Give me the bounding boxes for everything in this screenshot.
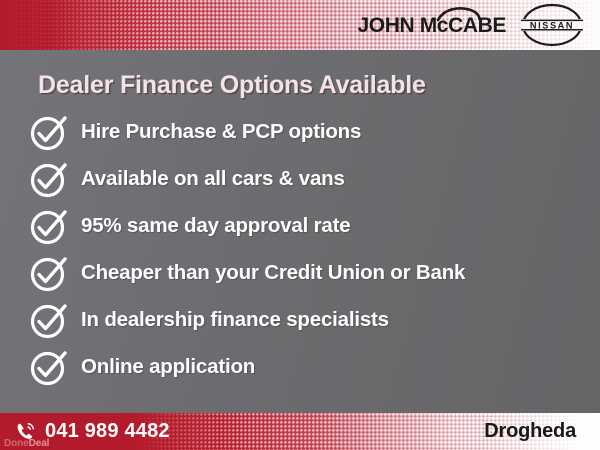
brand-logo-group[interactable]: JOHN McCABE NISSAN xyxy=(358,0,588,50)
check-circle-icon xyxy=(28,252,70,294)
page-title: Dealer Finance Options Available xyxy=(38,71,426,100)
check-circle-icon xyxy=(28,299,70,341)
list-item: 95% same day approval rate xyxy=(28,202,588,249)
dealer-location: Drogheda xyxy=(484,413,576,450)
nissan-logo-icon: NISSAN xyxy=(516,3,588,47)
list-item: Available on all cars & vans xyxy=(28,155,588,202)
advertisement-banner: JOHN McCABE NISSAN Dealer Finance Option… xyxy=(0,0,600,450)
check-circle-icon xyxy=(28,205,70,247)
list-item-label: Cheaper than your Credit Union or Bank xyxy=(81,261,465,285)
swoosh-icon xyxy=(436,6,482,22)
list-item-label: Online application xyxy=(81,355,255,379)
nissan-wordmark: NISSAN xyxy=(530,20,574,30)
list-item: Hire Purchase & PCP options xyxy=(28,108,588,155)
list-item: In dealership finance specialists xyxy=(28,296,588,343)
phone-number: 041 989 4482 xyxy=(45,420,170,443)
list-item-label: Available on all cars & vans xyxy=(81,167,345,191)
header-bar: JOHN McCABE NISSAN xyxy=(0,0,600,50)
list-item: Cheaper than your Credit Union or Bank xyxy=(28,249,588,296)
list-item-label: 95% same day approval rate xyxy=(81,214,350,238)
dealer-brand-name: JOHN McCABE xyxy=(358,15,506,36)
check-circle-icon xyxy=(28,346,70,388)
footer-bar: 041 989 4482 Drogheda DoneDeal xyxy=(0,413,600,450)
content-area: Dealer Finance Options Available Hire Pu… xyxy=(0,50,600,408)
list-item-label: In dealership finance specialists xyxy=(81,308,389,332)
donedeal-watermark: DoneDeal xyxy=(4,439,49,449)
dealer-brand-name-text: JOHN McCABE xyxy=(358,14,506,37)
watermark-done: Done xyxy=(4,438,29,449)
check-circle-icon xyxy=(28,158,70,200)
list-item-label: Hire Purchase & PCP options xyxy=(81,120,361,144)
watermark-deal: Deal xyxy=(29,438,50,449)
list-item: Online application xyxy=(28,343,588,390)
benefits-list: Hire Purchase & PCP options Available on… xyxy=(28,108,588,390)
check-circle-icon xyxy=(28,111,70,153)
